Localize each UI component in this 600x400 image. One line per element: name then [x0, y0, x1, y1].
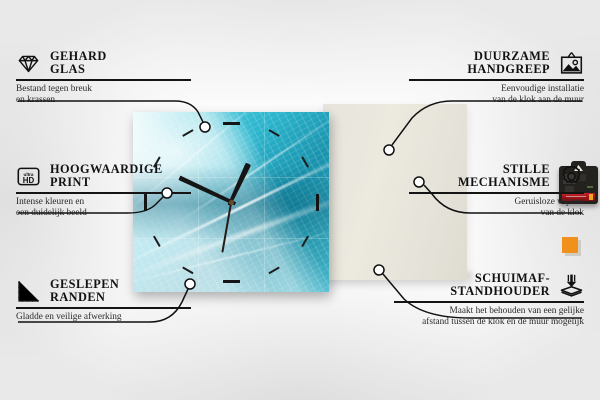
mechanism-detail	[587, 186, 593, 188]
feature-title: GESLEPEN RANDEN	[50, 278, 119, 304]
feature-schuimafstandhouder[interactable]: SCHUIMAF- STANDHOUDER Maakt het behouden…	[394, 272, 584, 329]
infographic-canvas: GEHARD GLAS Bestand tegen breuk en krass…	[0, 0, 600, 400]
hands-center-cap	[229, 200, 234, 205]
feature-title: DUURZAME HANDGREEP	[467, 50, 550, 76]
feature-description: Gladde en veilige afwerking	[16, 312, 191, 323]
ultra-hd-icon: ultra HD	[16, 164, 41, 189]
battery-plus-terminal	[589, 194, 593, 200]
foam-spacer-pad	[562, 237, 578, 253]
divider	[394, 301, 584, 302]
svg-text:HD: HD	[23, 175, 35, 184]
feature-title: SCHUIMAF- STANDHOUDER	[450, 272, 550, 298]
feature-description: Geruisloze wijzers van de klok	[409, 197, 584, 220]
divider	[409, 192, 584, 193]
bevel-edges-icon	[16, 279, 41, 304]
divider	[409, 79, 584, 80]
feature-title: HOOGWAARDIGE PRINT	[50, 163, 163, 189]
divider	[16, 192, 191, 193]
hour-marker	[316, 194, 319, 211]
feature-duurzame-handgreep[interactable]: DUURZAME HANDGREEP Eenvoudige installati…	[409, 50, 584, 107]
hour-marker	[223, 122, 240, 125]
feature-description: Intense kleuren en een duidelijk beeld	[16, 197, 191, 220]
picture-frame-hanger-icon	[559, 51, 584, 76]
feature-geslepen-randen[interactable]: GESLEPEN RANDEN Gladde en veilige afwerk…	[16, 278, 191, 323]
divider	[16, 79, 191, 80]
feature-stille-mechanisme[interactable]: STILLE MECHANISME Geruisloze wijzers van…	[409, 163, 584, 220]
divider	[16, 307, 191, 308]
hour-marker	[223, 280, 240, 283]
feature-title: STILLE MECHANISME	[458, 163, 550, 189]
feature-hoogwaardige-print[interactable]: ultra HD HOOGWAARDIGE PRINT Intense kleu…	[16, 163, 191, 220]
gear-icon	[559, 164, 584, 189]
feature-description: Maakt het behouden van een gelijke afsta…	[394, 306, 584, 329]
feature-description: Eenvoudige installatie van de klok aan d…	[409, 84, 584, 107]
foam-spacer-icon	[559, 273, 584, 298]
feature-gehard-glas[interactable]: GEHARD GLAS Bestand tegen breuk en krass…	[16, 50, 191, 107]
feature-title: GEHARD GLAS	[50, 50, 107, 76]
feature-description: Bestand tegen breuk en krassen	[16, 84, 191, 107]
diamond-icon	[16, 51, 41, 76]
